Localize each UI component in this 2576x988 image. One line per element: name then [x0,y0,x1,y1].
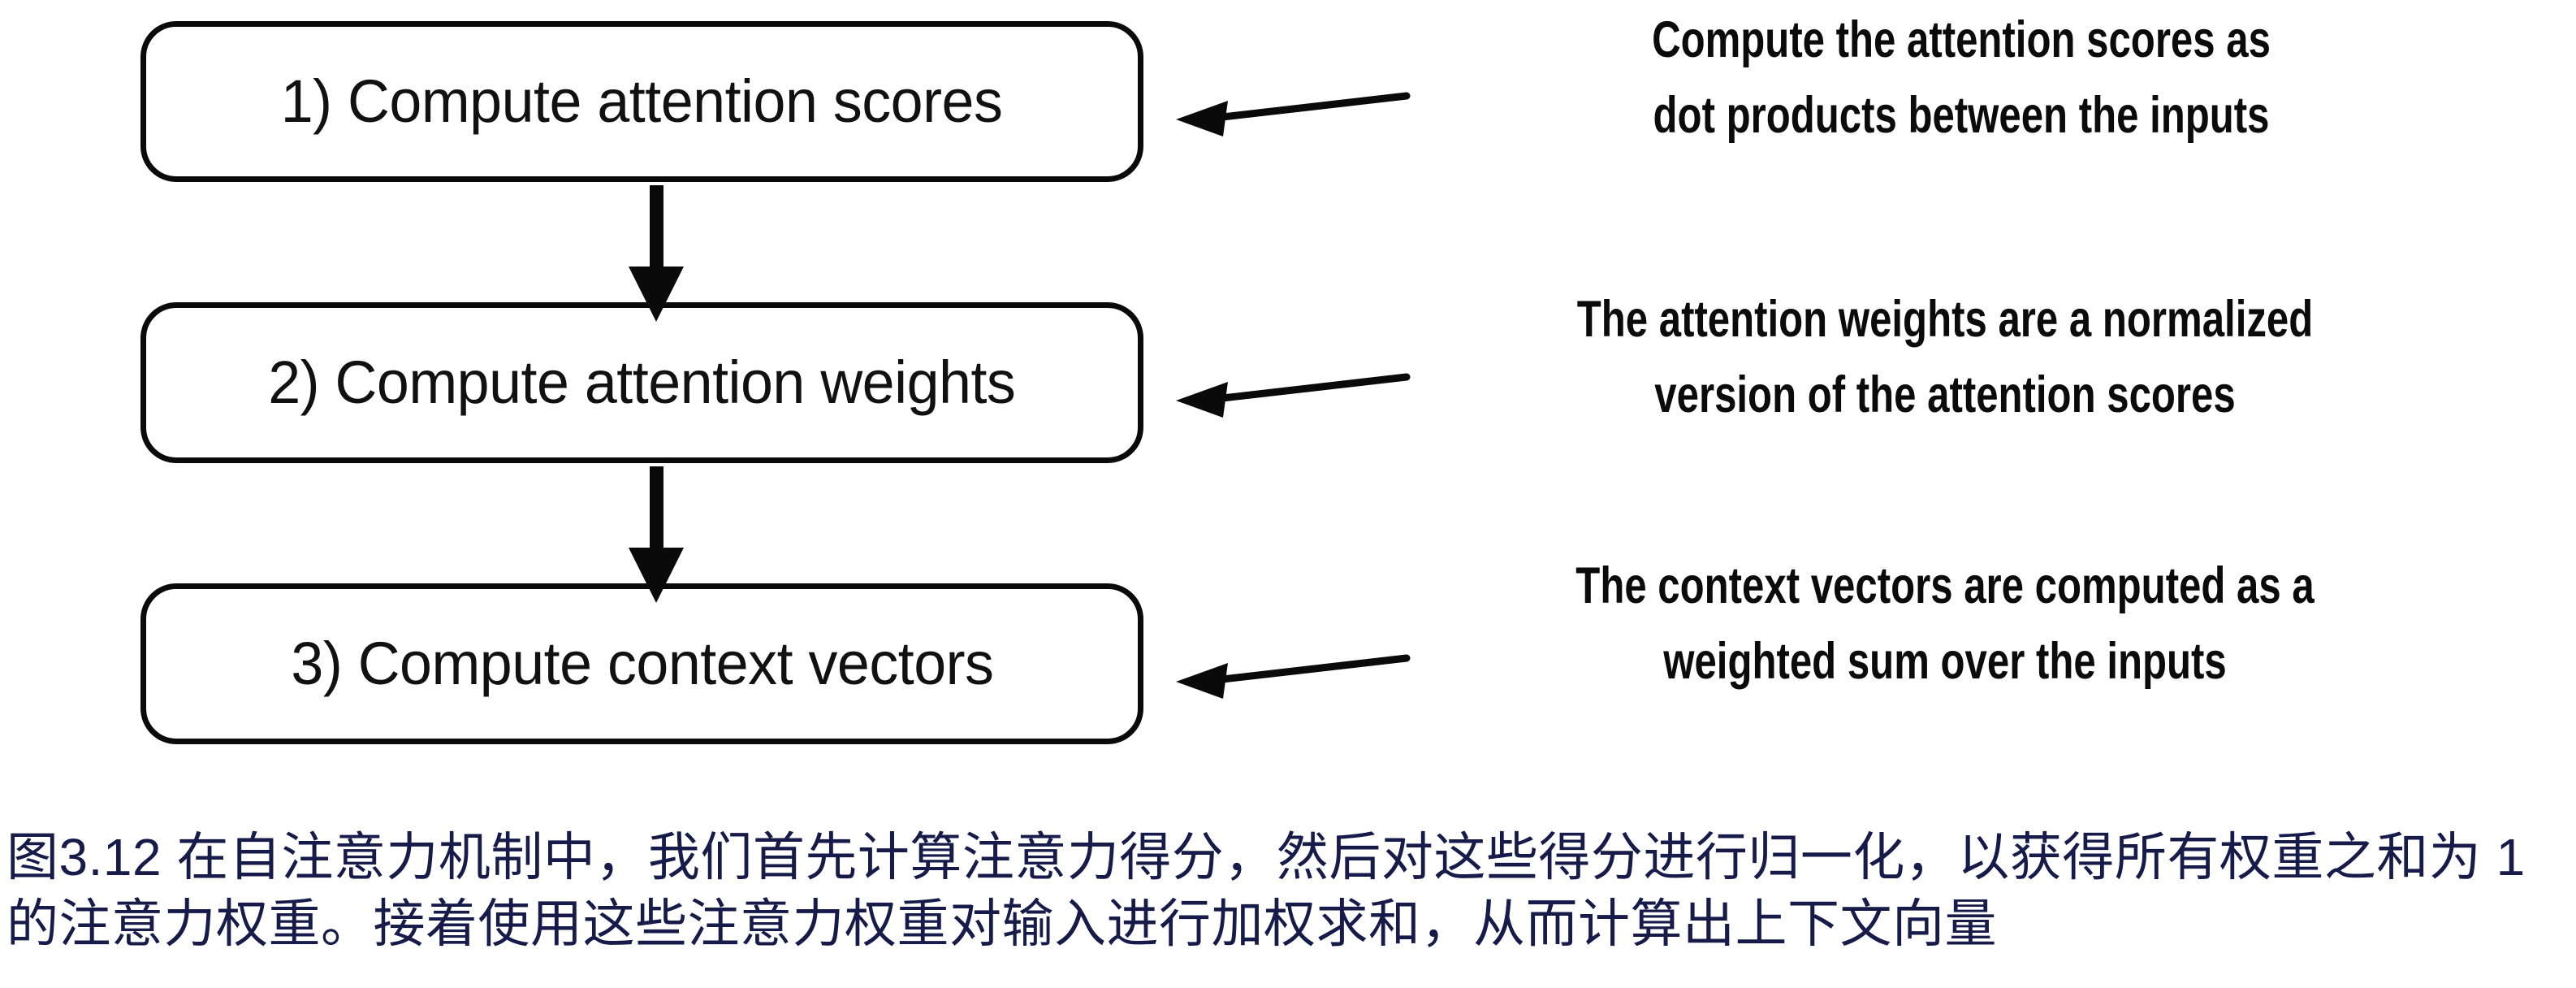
figure-caption: 图3.12 在自注意力机制中，我们首先计算注意力得分，然后对这些得分进行归一化，… [6,825,2573,958]
flow-step-box-1: 1) Compute attention scores [140,21,1143,182]
annotation-text-1: Compute the attention scores as dot prod… [1508,15,2414,141]
figure-caption-line-2: 的注意力权重。接着使用这些注意力权重对输入进行加权求和，从而计算出上下文向量 [6,891,2573,958]
annotation-1-line-1: Compute the attention scores as [1508,15,2414,66]
left-arrow-icon [1169,73,1413,146]
annotation-1-line-2: dot products between the inputs [1508,90,2414,141]
flow-step-box-2: 2) Compute attention weights [140,302,1143,463]
annotation-3-line-2: weighted sum over the inputs [1492,636,2397,687]
annotation-3-line-1: The context vectors are computed as a [1492,561,2397,612]
annotation-text-3: The context vectors are computed as a we… [1492,561,2397,687]
flow-step-label-2: 2) Compute attention weights [268,353,1015,413]
figure-root: 1) Compute attention scores 2) Compute a… [0,0,2576,988]
down-arrow-icon [607,185,705,323]
down-arrow-icon [607,466,705,604]
annotation-2-line-2: version of the attention scores [1492,370,2397,421]
annotation-2-line-1: The attention weights are a normalized [1492,294,2397,345]
flow-step-label-3: 3) Compute context vectors [291,634,993,694]
flow-step-box-3: 3) Compute context vectors [140,583,1143,744]
left-arrow-icon [1169,354,1413,427]
flowchart-area: 1) Compute attention scores 2) Compute a… [0,0,2576,780]
annotation-text-2: The attention weights are a normalized v… [1492,294,2397,421]
figure-caption-line-1: 图3.12 在自注意力机制中，我们首先计算注意力得分，然后对这些得分进行归一化，… [6,825,2573,891]
flow-step-label-1: 1) Compute attention scores [281,71,1003,132]
left-arrow-icon [1169,635,1413,708]
